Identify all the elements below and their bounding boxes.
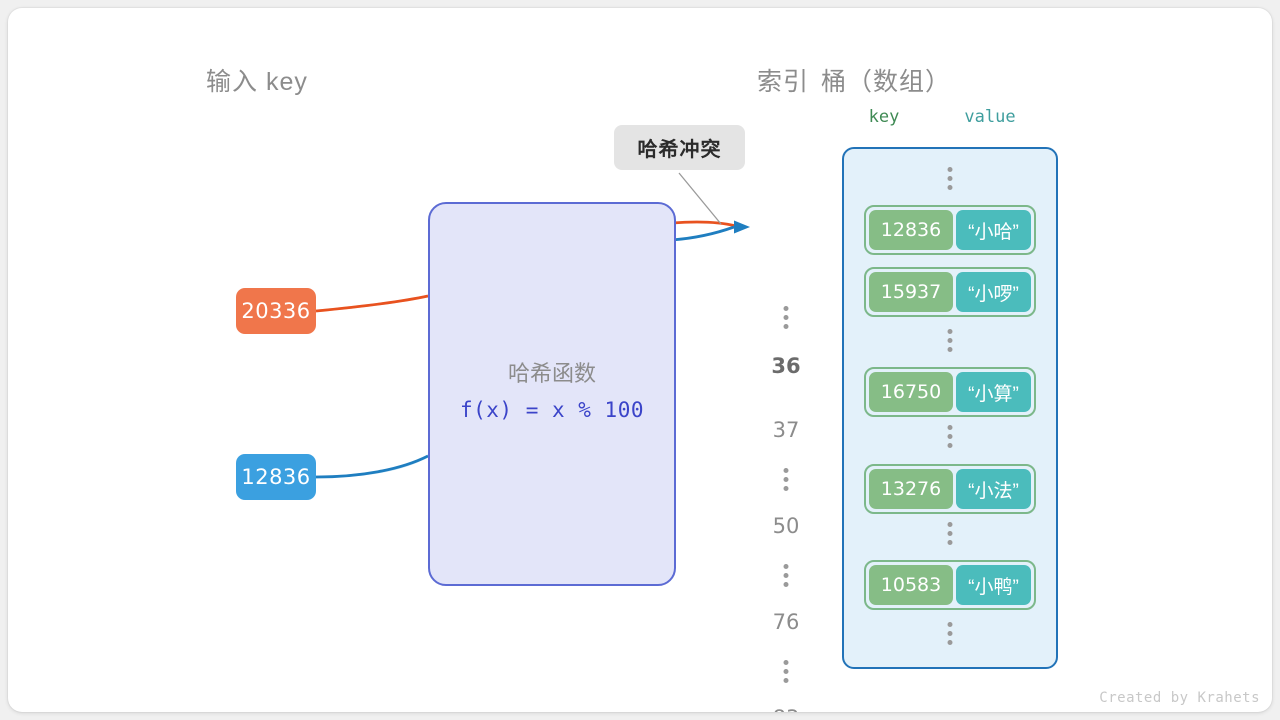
entry-key-cell: 13276 <box>869 469 953 509</box>
hash-function-formula: f(x) = x % 100 <box>430 398 674 422</box>
hash-function-title: 哈希函数 <box>430 356 674 388</box>
input-key-chip-orange[interactable]: 20336 <box>236 288 316 334</box>
entry-value-cell: “小哈” <box>956 210 1031 250</box>
entry-key-cell: 12836 <box>869 210 953 250</box>
bucket-ellipsis-icon <box>948 425 953 448</box>
bucket-entry[interactable]: 12836“小哈” <box>864 205 1036 255</box>
index-ellipsis-icon <box>784 660 789 683</box>
index-cell-83: 83 <box>750 706 822 712</box>
orange-curve-out <box>672 222 736 226</box>
entry-value-cell: “小算” <box>956 372 1031 412</box>
credit-text: Created by Krahets <box>1099 690 1260 706</box>
bucket-entry[interactable]: 10583“小鸭” <box>864 560 1036 610</box>
index-ellipsis-icon <box>784 306 789 329</box>
page-title-input-key: 输入 key <box>206 62 308 98</box>
diagram-card: 输入 key 索引 桶（数组） key value 20336 12836 哈希… <box>8 8 1272 712</box>
column-subtitle-key: key <box>869 107 900 127</box>
column-title-bucket: 桶（数组） <box>821 62 951 98</box>
entry-key-cell: 10583 <box>869 565 953 605</box>
column-subtitle-value: value <box>964 107 1015 127</box>
hash-function-box: 哈希函数 f(x) = x % 100 <box>428 202 676 586</box>
input-key-chip-blue[interactable]: 12836 <box>236 454 316 500</box>
index-cell-36: 36 <box>750 354 822 378</box>
entry-value-cell: “小啰” <box>956 272 1031 312</box>
index-cell-37: 37 <box>750 418 822 442</box>
column-title-index: 索引 <box>757 62 809 98</box>
entry-value-cell: “小法” <box>956 469 1031 509</box>
index-cell-50: 50 <box>750 514 822 538</box>
orange-curve-in <box>316 296 428 311</box>
index-ellipsis-icon <box>784 468 789 491</box>
diagram-stage: 输入 key 索引 桶（数组） key value 20336 12836 哈希… <box>8 8 1272 712</box>
bucket-ellipsis-icon <box>948 329 953 352</box>
bucket-ellipsis-icon <box>948 522 953 545</box>
bucket-entry[interactable]: 16750“小算” <box>864 367 1036 417</box>
blue-curve-out <box>672 227 734 240</box>
arrow-head-icon <box>734 221 750 234</box>
index-column: 3637507683 <box>750 148 822 658</box>
entry-key-cell: 15937 <box>869 272 953 312</box>
bucket-array: 12836“小哈”15937“小啰”16750“小算”13276“小法”1058… <box>842 147 1058 669</box>
bucket-entry[interactable]: 15937“小啰” <box>864 267 1036 317</box>
bucket-ellipsis-icon <box>948 622 953 645</box>
entry-value-cell: “小鸭” <box>956 565 1031 605</box>
hash-collision-badge: 哈希冲突 <box>614 125 745 170</box>
index-cell-76: 76 <box>750 610 822 634</box>
callout-leader-line <box>679 173 721 224</box>
blue-curve-in <box>316 456 428 477</box>
bucket-entry[interactable]: 13276“小法” <box>864 464 1036 514</box>
entry-key-cell: 16750 <box>869 372 953 412</box>
bucket-ellipsis-icon <box>948 167 953 190</box>
index-ellipsis-icon <box>784 564 789 587</box>
